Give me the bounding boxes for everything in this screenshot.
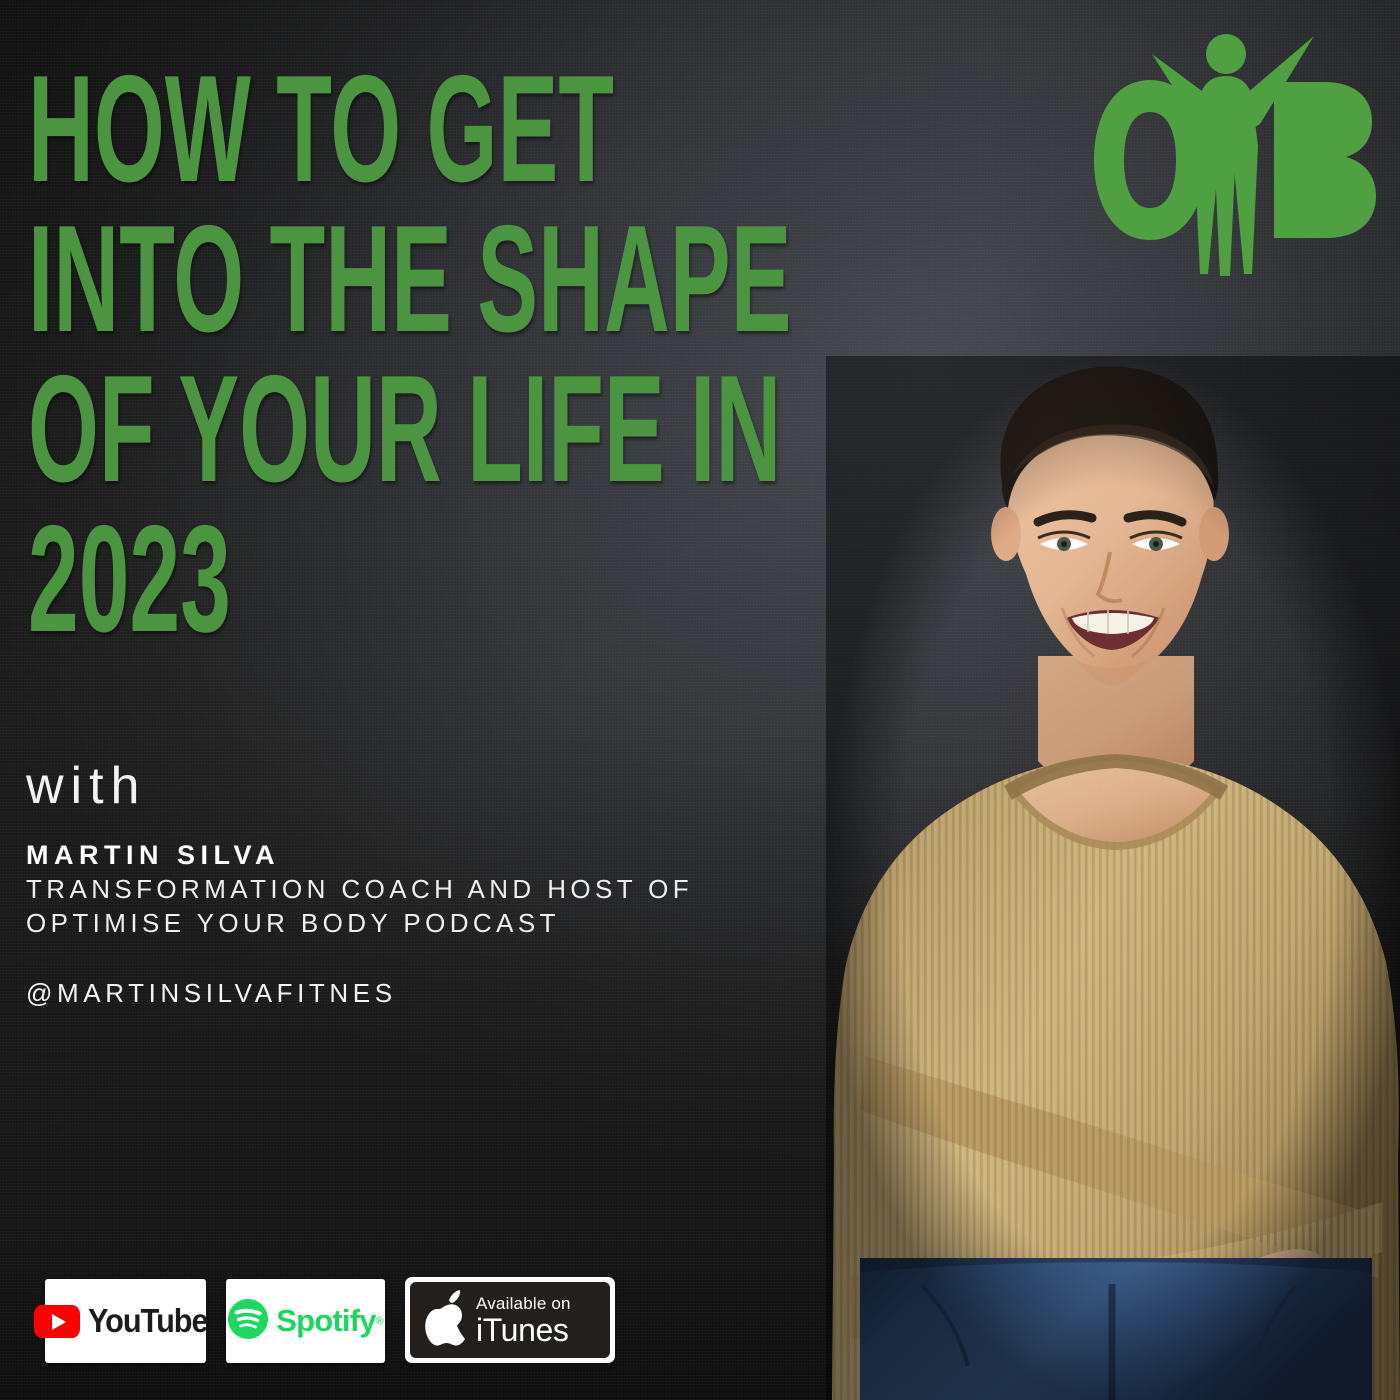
platform-badges: YouTube Spotify®	[45, 1277, 615, 1363]
host-role-line-2: OPTIMISE YOUR BODY PODCAST	[26, 906, 806, 940]
podcast-cover: HOW TO GET INTO THE SHAPE OF YOUR LIFE I…	[0, 0, 1400, 1400]
title-line-3: OF YOUR LIFE IN	[28, 354, 556, 504]
badge-itunes[interactable]: Available on iTunes	[405, 1277, 615, 1363]
host-role-line-1: TRANSFORMATION COACH AND HOST OF	[26, 872, 806, 906]
badge-youtube[interactable]: YouTube	[45, 1279, 206, 1363]
title-line-2: INTO THE SHAPE	[28, 204, 556, 354]
oyb-logo	[1088, 18, 1378, 288]
host-portrait	[826, 356, 1400, 1400]
spotify-icon	[227, 1298, 269, 1345]
badge-spotify[interactable]: Spotify®	[226, 1279, 385, 1363]
host-name: MARTIN SILVA	[26, 838, 806, 872]
host-social-handle: @MARTINSILVAFITNES	[26, 976, 806, 1010]
itunes-label: iTunes	[476, 1314, 571, 1346]
with-label: with	[26, 760, 146, 812]
title-line-1: HOW TO GET	[28, 54, 556, 204]
itunes-inner: Available on iTunes	[410, 1282, 610, 1358]
spotify-text: Spotify®	[276, 1303, 384, 1339]
youtube-play-icon	[34, 1305, 80, 1338]
title-line-4: 2023	[28, 504, 556, 654]
spotify-trademark: ®	[376, 1316, 384, 1328]
youtube-lockup: YouTube	[34, 1302, 217, 1340]
apple-icon	[421, 1289, 469, 1352]
spotify-lockup: Spotify®	[227, 1298, 384, 1345]
episode-title: HOW TO GET INTO THE SHAPE OF YOUR LIFE I…	[28, 54, 908, 654]
logo-letter-b	[1274, 82, 1376, 238]
spotify-label: Spotify	[276, 1303, 375, 1338]
itunes-text: Available on iTunes	[476, 1295, 571, 1346]
itunes-available-label: Available on	[476, 1295, 571, 1312]
host-credits: MARTIN SILVA TRANSFORMATION COACH AND HO…	[26, 838, 806, 1010]
youtube-label: YouTube	[88, 1302, 208, 1340]
